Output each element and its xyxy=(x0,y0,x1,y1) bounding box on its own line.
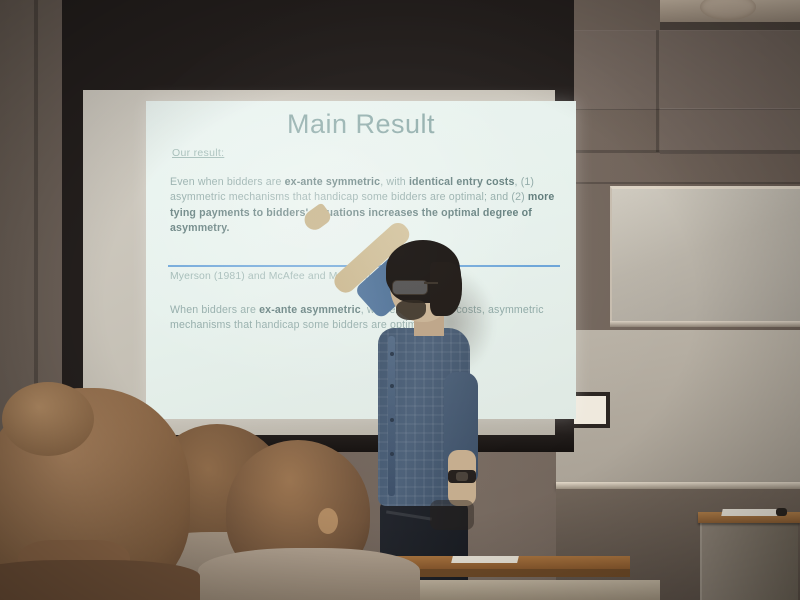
lectern xyxy=(700,518,798,600)
p2-text-a: When bidders are xyxy=(170,304,259,316)
p1-bold-a: ex-ante symmetric xyxy=(285,176,381,188)
wall-seam-vertical xyxy=(656,30,659,152)
wall-panel-upper xyxy=(574,30,800,110)
desk-paper xyxy=(451,556,519,563)
lecture-hall-photo: Main Result Our result: Even when bidder… xyxy=(0,0,800,600)
audience-member-3-ear xyxy=(318,508,338,534)
marker-icon xyxy=(776,508,787,516)
presenter-shirt-placket xyxy=(388,336,395,496)
wall-left-seam xyxy=(34,0,38,420)
audience-member-3-top xyxy=(198,548,420,600)
lectern-papers xyxy=(721,509,778,516)
slide-subheading: Our result: xyxy=(172,147,224,159)
shirt-button-1 xyxy=(390,352,394,356)
wall-seam-2 xyxy=(574,182,800,184)
board-rail xyxy=(556,482,800,489)
wristwatch-face xyxy=(456,472,468,481)
ledge-shadow xyxy=(660,22,800,30)
p1-bold-b: identical entry costs xyxy=(409,176,515,188)
audience-member-1-shoulder xyxy=(0,560,200,600)
p1-text-b: , with xyxy=(380,176,409,188)
glasses-temple xyxy=(424,282,438,284)
p2-bold-a: ex-ante asymmetric xyxy=(259,304,361,316)
shirt-button-2 xyxy=(390,384,394,388)
glasses-icon xyxy=(392,280,428,295)
audience-member-1-bun xyxy=(2,382,94,456)
presenter-beard xyxy=(396,300,426,320)
slide-paragraph-1: Even when bidders are ex-ante symmetric,… xyxy=(170,175,558,237)
wall-panel-mid-right xyxy=(660,108,800,154)
whiteboard-upper xyxy=(610,186,800,324)
wall-seam-1 xyxy=(574,150,800,153)
presenter-hair-back xyxy=(430,262,462,316)
presenter-hip-shadow xyxy=(430,500,474,530)
slide-title: Main Result xyxy=(146,109,576,140)
shirt-button-3 xyxy=(390,418,394,422)
shirt-button-4 xyxy=(390,452,394,456)
p1-text-a: Even when bidders are xyxy=(170,176,285,188)
presenter xyxy=(352,232,482,600)
whiteboard-tray xyxy=(610,321,800,327)
